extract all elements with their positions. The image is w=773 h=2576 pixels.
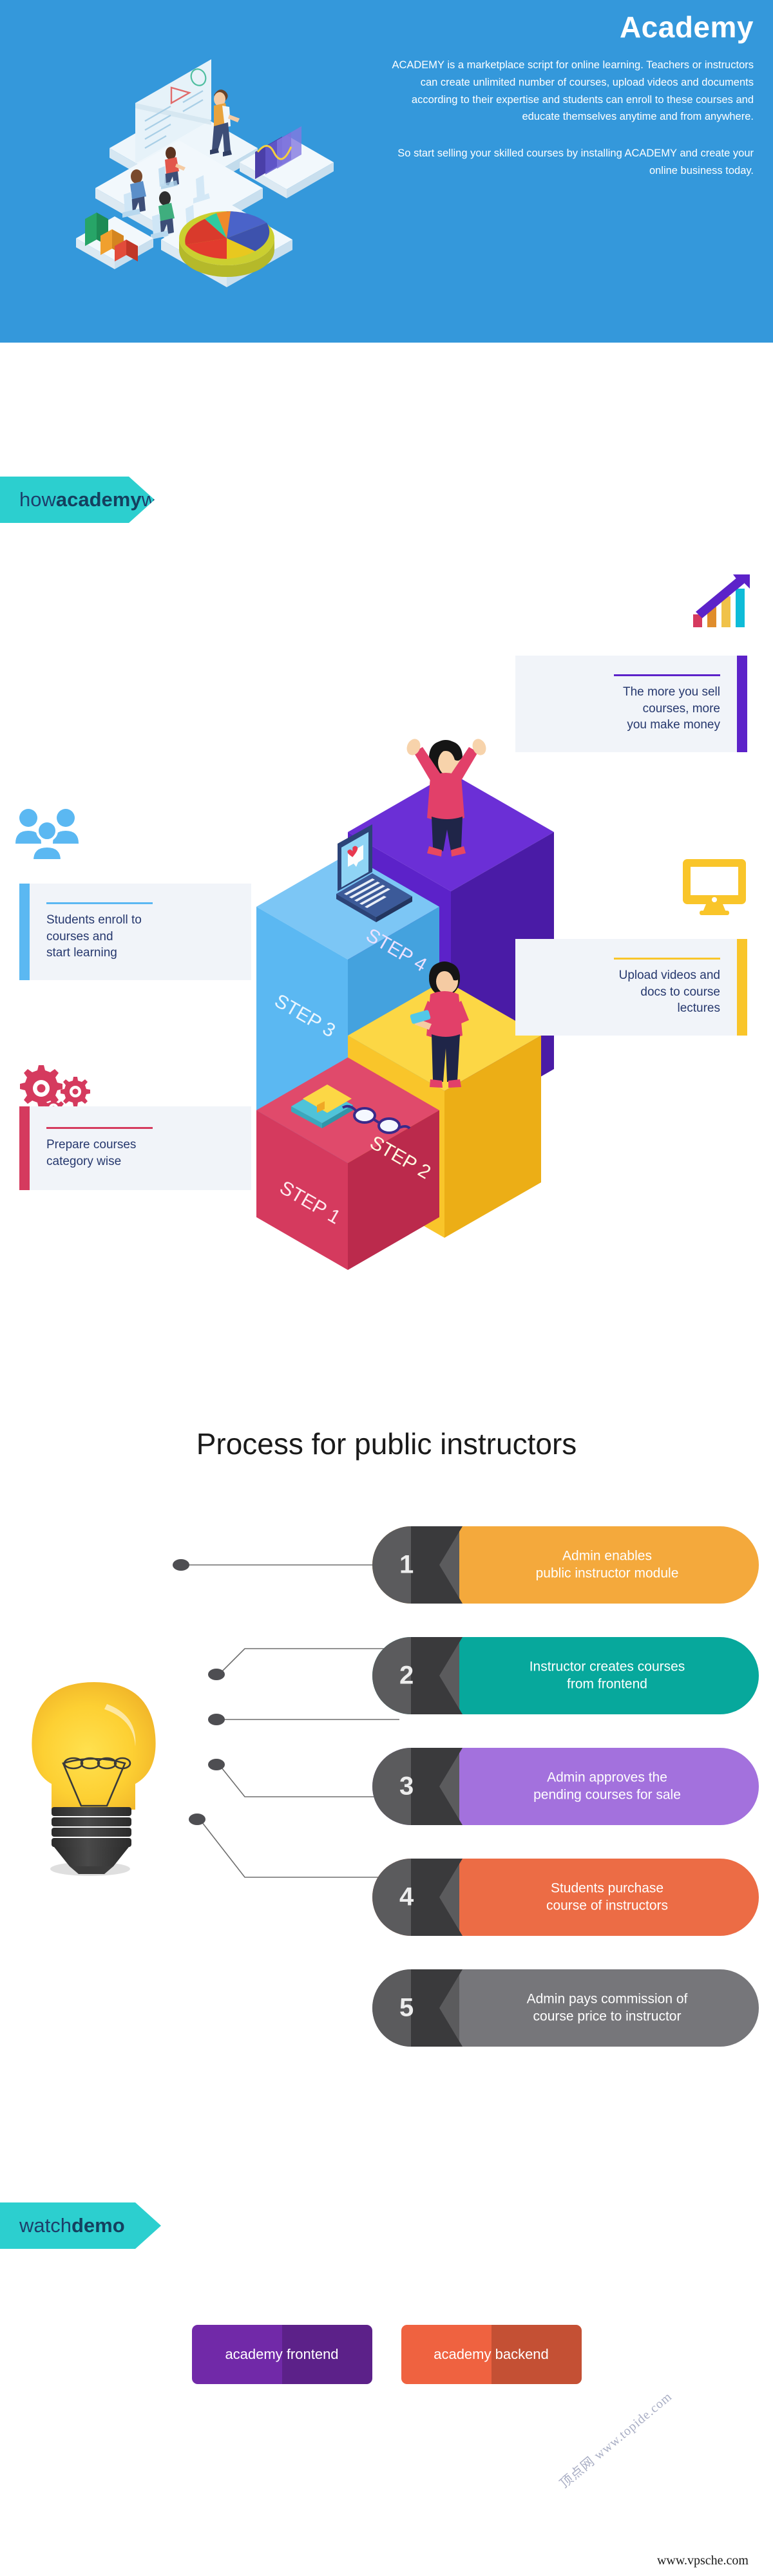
academy-frontend-label: academy frontend (225, 2346, 338, 2363)
process-step-3-label: Admin approves the pending courses for s… (472, 1769, 742, 1804)
watch-demo-ribbon: watch demo (0, 2202, 161, 2249)
callout-students-enroll: Students enroll to courses and start lea… (19, 884, 251, 980)
ribbon-bold: academy (56, 488, 142, 511)
process-step-1-number: 1 (399, 1551, 414, 1580)
process-step-2-number: 2 (399, 1662, 414, 1690)
ribbon-suffix: works (142, 488, 194, 511)
ribbon-prefix: how (19, 488, 56, 511)
users-group-icon (12, 806, 82, 866)
process-steps-list: 1 Admin enables public instructor module… (0, 1526, 773, 2106)
how-academy-works-ribbon: how academy works (0, 477, 155, 523)
process-step-4-number: 4 (399, 1883, 414, 1912)
callout-rule (46, 902, 153, 904)
callout-students-enroll-text: Students enroll to courses and start lea… (46, 912, 234, 961)
growth-bar-chart-icon (687, 574, 758, 631)
process-step-1-label: Admin enables public instructor module (472, 1548, 742, 1583)
process-step-2[interactable]: 2 Instructor creates courses from fronte… (372, 1637, 759, 1714)
process-step-2-label: Instructor creates courses from frontend (472, 1658, 742, 1694)
process-section-title: Process for public instructors (0, 1426, 773, 1461)
academy-backend-label: academy backend (434, 2346, 549, 2363)
process-step-1[interactable]: 1 Admin enables public instructor module (372, 1526, 759, 1604)
process-step-4-label: Students purchase course of instructors (472, 1880, 742, 1915)
process-step-5-label: Admin pays commission of course price to… (472, 1991, 742, 2026)
process-step-3[interactable]: 3 Admin approves the pending courses for… (372, 1748, 759, 1825)
callout-rule (614, 674, 720, 676)
academy-backend-button[interactable]: academy backend (401, 2325, 582, 2384)
academy-frontend-button[interactable]: academy frontend (192, 2325, 372, 2384)
header-paragraph-1: ACADEMY is a marketplace script for onli… (386, 57, 754, 126)
header-banner: Academy ACADEMY is a marketplace script … (0, 0, 773, 343)
demo-button-group: academy frontend academy backend (0, 2325, 773, 2384)
process-step-5[interactable]: 5 Admin pays commission of course price … (372, 1969, 759, 2047)
callout-upload-videos: Upload videos and docs to course lecture… (515, 939, 747, 1036)
callout-sell-more: The more you sell courses, more you make… (515, 656, 747, 752)
header-paragraph-2: So start selling your skilled courses by… (386, 145, 754, 179)
page-title: Academy (386, 12, 754, 43)
process-step-5-number: 5 (399, 1994, 414, 2023)
demo-ribbon-bold: demo (72, 2214, 125, 2237)
callout-sell-more-text: The more you sell courses, more you make… (623, 684, 720, 733)
monitor-icon (679, 855, 750, 917)
diagonal-watermark: 顶点网 www.topide.com (555, 2387, 675, 2492)
header-text-block: Academy ACADEMY is a marketplace script … (386, 12, 754, 180)
how-academy-works-diagram: STEP 1 STEP 2 STEP 3 STEP 4 (0, 554, 773, 1288)
bottom-right-watermark: www.vpsche.com (657, 2553, 749, 2568)
callout-prepare-courses: Prepare courses category wise (19, 1106, 251, 1190)
callout-rule (46, 1127, 153, 1129)
demo-ribbon-prefix: watch (19, 2214, 72, 2237)
process-step-4[interactable]: 4 Students purchase course of instructor… (372, 1859, 759, 1936)
callout-upload-videos-text: Upload videos and docs to course lecture… (619, 967, 720, 1016)
header-illustration (39, 26, 348, 296)
callout-prepare-courses-text: Prepare courses category wise (46, 1137, 234, 1170)
callout-rule (614, 958, 720, 960)
process-step-3-number: 3 (399, 1772, 414, 1801)
